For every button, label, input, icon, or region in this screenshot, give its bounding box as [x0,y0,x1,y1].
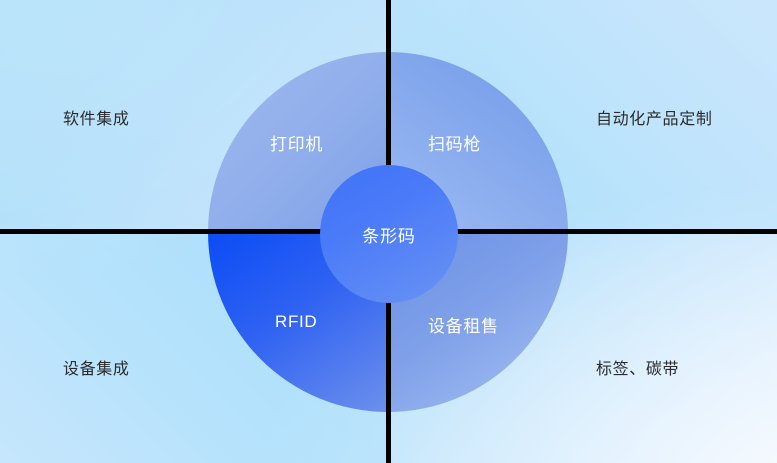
outer-label-software-integration: 软件集成 [63,105,130,129]
outer-label-labels-ribbons: 标签、碳带 [596,355,679,379]
wedge-label-scanner: 扫码枪 [428,130,481,155]
wedge-label-rfid: RFID [275,312,317,332]
center-circle[interactable]: 条形码 [320,165,458,303]
outer-label-device-integration: 设备集成 [63,355,130,379]
diagram-canvas: 打印机 扫码枪 RFID 设备租售 条形码 软件集成 自动化产品定制 设备集成 … [0,0,777,463]
wedge-label-equipment-rental: 设备租售 [428,312,499,337]
wedge-label-printer: 打印机 [270,130,323,155]
center-circle-label: 条形码 [362,222,416,247]
outer-label-automation-customization: 自动化产品定制 [596,105,712,129]
